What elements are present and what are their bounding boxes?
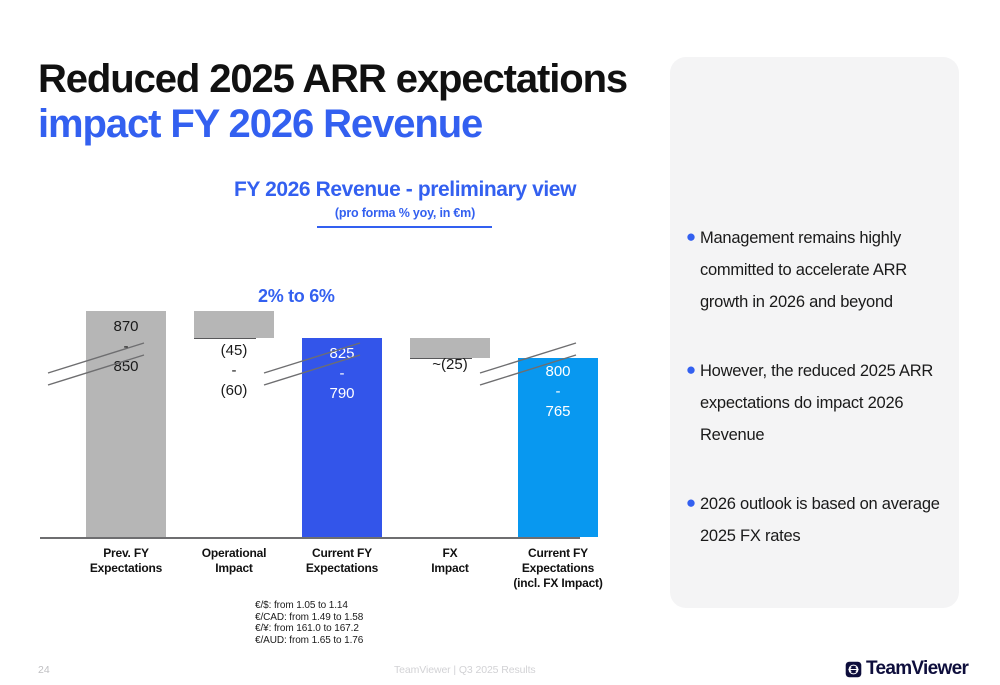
list-item: ● Management remains highly committed to…: [682, 222, 950, 318]
page-title-line-2: impact FY 2026 Revenue: [38, 102, 658, 147]
teamviewer-logo: TeamViewer: [845, 658, 968, 680]
list-item: ● However, the reduced 2025 ARR expectat…: [682, 355, 950, 451]
bullet-dot-icon: ●: [682, 222, 700, 252]
category-label-current-fy-expectations: Current FY Expectations: [292, 546, 392, 576]
waterfall-chart-panel: FY 2026 Revenue - preliminary view (pro …: [40, 178, 650, 648]
teamviewer-mark-icon: [845, 661, 862, 678]
bullet-text-management-commitment: Management remains highly committed to a…: [700, 222, 940, 318]
bar-label-operational-impact: (45) - (60): [194, 341, 274, 401]
footer-page-number: 24: [38, 664, 50, 676]
footer-deck-title: TeamViewer | Q3 2025 Results: [394, 664, 536, 676]
bar-operational-impact[interactable]: [194, 311, 274, 338]
fx-rate-usd: €/$: from 1.05 to 1.14: [255, 600, 363, 612]
fx-rates-footnote: €/$: from 1.05 to 1.14 €/CAD: from 1.49 …: [255, 600, 363, 646]
bullet-dot-icon: ●: [682, 488, 700, 518]
bar-label-current-fy-expectations: 825 - 790: [302, 344, 382, 404]
category-label-operational-impact: Operational Impact: [184, 546, 284, 576]
commentary-panel: ● Management remains highly committed to…: [670, 57, 959, 608]
bullet-text-fx-assumption: 2026 outlook is based on average 2025 FX…: [700, 488, 940, 552]
fx-rate-jpy: €/¥: from 161.0 to 167.2: [255, 623, 363, 635]
bar-label-fx-impact: ~(25): [410, 355, 490, 375]
category-label-current-fy-expectations-incl-fx: Current FY Expectations (incl. FX Impact…: [498, 546, 618, 591]
fx-rate-cad: €/CAD: from 1.49 to 1.58: [255, 612, 363, 624]
connector-line-2: [194, 338, 256, 339]
fx-rate-aud: €/AUD: from 1.65 to 1.76: [255, 635, 363, 647]
bullet-dot-icon: ●: [682, 355, 700, 385]
bar-label-current-fy-expectations-incl-fx: 800 - 765: [518, 362, 598, 422]
chart-axis-line: [40, 537, 580, 539]
chart-plot-area: 2% to 6% 870 - 850 (45) - (60) 825 - 790…: [40, 178, 650, 648]
page-title-line-1: Reduced 2025 ARR expectations: [38, 57, 658, 102]
teamviewer-logo-text: TeamViewer: [866, 658, 968, 680]
bar-label-prev-fy-expectations: 870 - 850: [86, 317, 166, 377]
growth-range-annotation: 2% to 6%: [258, 286, 335, 307]
bullet-text-arr-impact: However, the reduced 2025 ARR expectatio…: [700, 355, 940, 451]
page-title: Reduced 2025 ARR expectations impact FY …: [38, 57, 658, 147]
category-label-fx-impact: FX Impact: [400, 546, 500, 576]
commentary-bullet-list: ● Management remains highly committed to…: [682, 222, 950, 589]
category-label-prev-fy-expectations: Prev. FY Expectations: [76, 546, 176, 576]
list-item: ● 2026 outlook is based on average 2025 …: [682, 488, 950, 552]
